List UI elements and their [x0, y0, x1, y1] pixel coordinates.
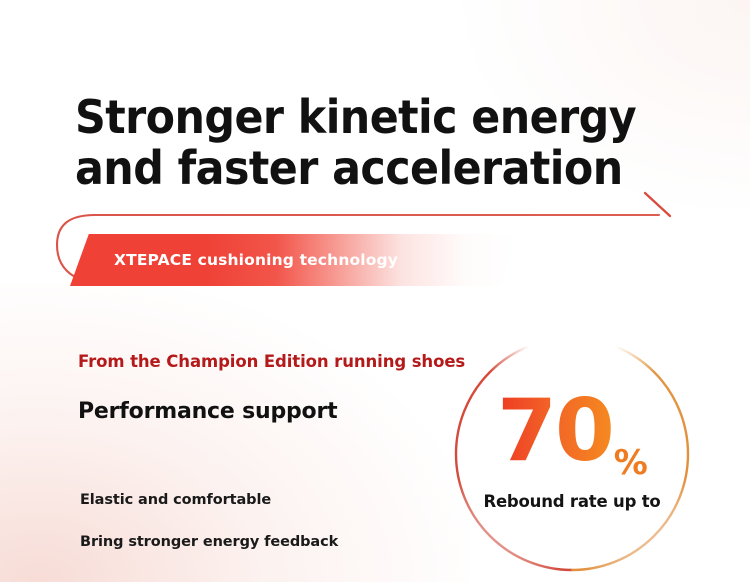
feature-bullet-2: Bring stronger energy feedback	[80, 534, 338, 550]
ribbon-label: XTEPACE cushioning technology	[114, 234, 398, 286]
badge-unit: %	[614, 443, 648, 483]
headline-line-1: Stronger kinetic energy	[75, 92, 652, 143]
subheading: Performance support	[78, 399, 337, 424]
eyebrow-text: From the Champion Edition running shoes	[78, 352, 465, 371]
arrow-head	[645, 193, 670, 216]
feature-bullet-1: Elastic and comfortable	[80, 492, 271, 508]
rebound-rate-badge: 70% Rebound rate up to	[452, 334, 692, 574]
badge-stat: 70%	[452, 388, 692, 474]
technology-ribbon: XTEPACE cushioning technology	[70, 234, 518, 286]
headline: Stronger kinetic energy and faster accel…	[75, 92, 652, 194]
badge-caption: Rebound rate up to	[452, 492, 692, 511]
poster-canvas: Stronger kinetic energy and faster accel…	[0, 0, 750, 582]
badge-value: 70	[497, 381, 613, 481]
